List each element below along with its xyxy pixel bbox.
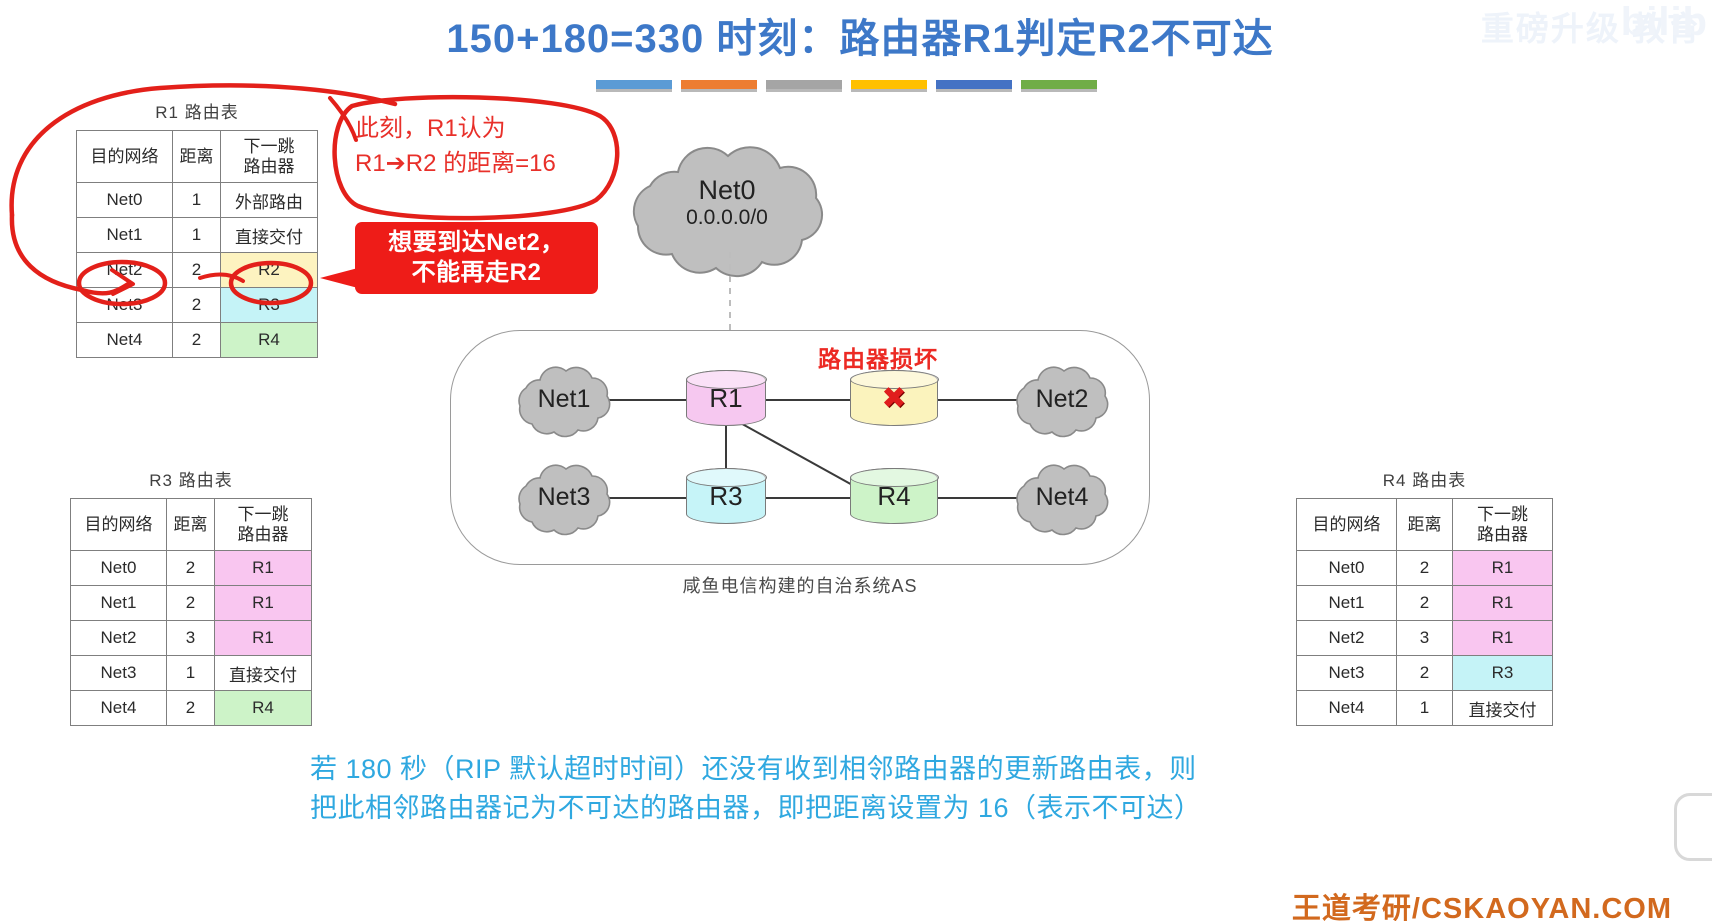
title-bar-1 <box>681 80 757 92</box>
net4-label: Net4 <box>1010 483 1114 512</box>
table-header-row: 目的网络 距离 下一跳 路由器 <box>1297 499 1553 551</box>
header-dist: 距离 <box>173 131 221 183</box>
table-header-row: 目的网络 距离 下一跳 路由器 <box>77 131 318 183</box>
cell-dist: 1 <box>173 183 221 218</box>
bottom-caption: 若 180 秒（RIP 默认超时时间）还没有收到相邻路由器的更新路由表，则 把此… <box>310 750 1430 828</box>
cell-dist: 2 <box>173 288 221 323</box>
cell-nexthop: R1 <box>1453 586 1553 621</box>
cell-nexthop: R3 <box>1453 656 1553 691</box>
r1-table-title: R1 路由表 <box>76 98 318 123</box>
net2-label: Net2 <box>1010 385 1114 414</box>
cell-dist: 1 <box>167 656 215 691</box>
title-bar-2 <box>766 80 842 92</box>
caption-line-2: 把此相邻路由器记为不可达的路由器，即把距离设置为 16（表示不可达） <box>310 789 1430 828</box>
cell-dest: Net4 <box>71 691 167 726</box>
header-dest: 目的网络 <box>71 499 167 551</box>
header-dist: 距离 <box>167 499 215 551</box>
title-underline-bars <box>596 80 1097 92</box>
r3-table-title: R3 路由表 <box>70 466 312 491</box>
cell-dist: 2 <box>173 323 221 358</box>
title-bar-5 <box>1021 80 1097 92</box>
cell-dest: Net4 <box>1297 691 1397 726</box>
cell-dest: Net2 <box>1297 621 1397 656</box>
cell-dist: 3 <box>1397 621 1453 656</box>
cell-dist: 2 <box>1397 656 1453 691</box>
cell-nexthop: R1 <box>215 551 312 586</box>
cell-nexthop: R2 <box>221 253 318 288</box>
router-r4[interactable]: R4 <box>850 468 938 524</box>
cell-dist: 2 <box>173 253 221 288</box>
header-dest: 目的网络 <box>77 131 173 183</box>
table-row: Net32R3 <box>1297 656 1553 691</box>
cell-dist: 2 <box>1397 586 1453 621</box>
cell-dist: 1 <box>1397 691 1453 726</box>
table-row: Net23R1 <box>71 621 312 656</box>
cell-nexthop: R1 <box>1453 621 1553 656</box>
watermark-bottom: 王道考研/CSKAOYAN.COM <box>1292 885 1672 921</box>
callout-r1-belief: 此刻，R1认为 R1➔R2 的距离=16 <box>355 112 605 182</box>
table-row: Net31直接交付 <box>71 656 312 691</box>
router-r4-label: R4 <box>877 481 910 512</box>
table-row: Net41直接交付 <box>1297 691 1553 726</box>
r1-routing-table-block: R1 路由表 目的网络 距离 下一跳 路由器 Net01外部路由Net11直接交… <box>76 98 318 358</box>
cell-nexthop: R1 <box>1453 551 1553 586</box>
slide-title: 150+180=330 时刻：路由器R1判定R2不可达 <box>380 6 1340 64</box>
broken-router-label: 路由器损坏 <box>818 340 938 374</box>
r4-routing-table-block: R4 路由表 目的网络 距离 下一跳 路由器 Net02R1Net12R1Net… <box>1296 466 1553 726</box>
router-r2-broken[interactable]: ✖ <box>850 370 938 426</box>
cell-dest: Net2 <box>71 621 167 656</box>
router-r3-label: R3 <box>709 481 742 512</box>
header-dest: 目的网络 <box>1297 499 1397 551</box>
cell-dist: 2 <box>167 691 215 726</box>
callout-line-2: R1➔R2 的距离=16 <box>355 147 605 182</box>
bilibili-logo-watermark: bilib <box>1621 0 1708 45</box>
link-r1-r2 <box>766 399 850 401</box>
bubble-tail <box>320 268 358 288</box>
cell-dest: Net1 <box>71 586 167 621</box>
router-r3[interactable]: R3 <box>686 468 766 524</box>
table-row: Net11直接交付 <box>77 218 318 253</box>
table-row: Net42R4 <box>77 323 318 358</box>
cell-dest: Net4 <box>77 323 173 358</box>
header-dist: 距离 <box>1397 499 1453 551</box>
cell-nexthop: R1 <box>215 586 312 621</box>
cell-nexthop: R3 <box>221 288 318 323</box>
cell-dest: Net2 <box>77 253 173 288</box>
link-net1-r1 <box>608 399 690 401</box>
callout-bubble-avoid-r2: 想要到达Net2， 不能再走R2 <box>355 222 598 294</box>
table-row: Net12R1 <box>1297 586 1553 621</box>
net1-label: Net1 <box>512 385 616 414</box>
header-nexthop-line1: 下一跳 <box>215 505 311 525</box>
table-row: Net22R2 <box>77 253 318 288</box>
table-row: Net02R1 <box>1297 551 1553 586</box>
r3-routing-table-block: R3 路由表 目的网络 距离 下一跳 路由器 Net02R1Net12R1Net… <box>70 466 312 726</box>
router-r1[interactable]: R1 <box>686 370 766 426</box>
cell-dest: Net0 <box>1297 551 1397 586</box>
net0-label: Net0 <box>616 175 838 206</box>
header-nexthop-line2: 路由器 <box>221 157 317 177</box>
cell-dist: 2 <box>167 551 215 586</box>
header-nexthop-line1: 下一跳 <box>1453 505 1552 525</box>
r1-routing-table: 目的网络 距离 下一跳 路由器 Net01外部路由Net11直接交付Net22R… <box>76 130 318 358</box>
cell-dest: Net3 <box>71 656 167 691</box>
cell-dest: Net3 <box>1297 656 1397 691</box>
bubble-line-1: 想要到达Net2， <box>388 228 565 258</box>
link-r4-net4 <box>938 497 1020 499</box>
net3-label: Net3 <box>512 483 616 512</box>
table-row: Net23R1 <box>1297 621 1553 656</box>
bubble-line-2: 不能再走R2 <box>412 258 542 288</box>
broken-x-icon: ✖ <box>881 381 906 416</box>
title-bar-3 <box>851 80 927 92</box>
callout-line-1: 此刻，R1认为 <box>355 112 605 147</box>
r4-table-title: R4 路由表 <box>1296 466 1553 491</box>
r3-routing-table: 目的网络 距离 下一跳 路由器 Net02R1Net12R1Net23R1Net… <box>70 498 312 726</box>
table-row: Net12R1 <box>71 586 312 621</box>
title-bar-4 <box>936 80 1012 92</box>
header-nexthop-line2: 路由器 <box>215 525 311 545</box>
title-bar-0 <box>596 80 672 92</box>
cell-nexthop: 外部路由 <box>221 183 318 218</box>
cell-nexthop: R4 <box>221 323 318 358</box>
header-nexthop: 下一跳 路由器 <box>221 131 318 183</box>
table-row: Net01外部路由 <box>77 183 318 218</box>
header-nexthop: 下一跳 路由器 <box>1453 499 1553 551</box>
table-row: Net02R1 <box>71 551 312 586</box>
table-row: Net42R4 <box>71 691 312 726</box>
cell-dest: Net0 <box>71 551 167 586</box>
slide-canvas: 重磅升级 教育 bilib 王道考研/CSKAOYAN.COM 150+180=… <box>0 0 1712 921</box>
link-r2-net2 <box>938 399 1020 401</box>
as-label: 咸鱼电信构建的自治系统AS <box>450 572 1150 598</box>
cell-nexthop: 直接交付 <box>215 656 312 691</box>
cell-dist: 2 <box>1397 551 1453 586</box>
cell-dist: 2 <box>167 586 215 621</box>
table-row: Net32R3 <box>77 288 318 323</box>
header-nexthop: 下一跳 路由器 <box>215 499 312 551</box>
cell-nexthop: R1 <box>215 621 312 656</box>
cell-nexthop: 直接交付 <box>1453 691 1553 726</box>
header-nexthop-line2: 路由器 <box>1453 525 1552 545</box>
cell-dist: 3 <box>167 621 215 656</box>
router-r1-label: R1 <box>709 383 742 414</box>
cell-dest: Net1 <box>77 218 173 253</box>
header-nexthop-line1: 下一跳 <box>221 137 317 157</box>
cell-dest: Net0 <box>77 183 173 218</box>
cell-dest: Net1 <box>1297 586 1397 621</box>
r4-routing-table: 目的网络 距离 下一跳 路由器 Net02R1Net12R1Net23R1Net… <box>1296 498 1553 726</box>
cell-dist: 1 <box>173 218 221 253</box>
cell-nexthop: 直接交付 <box>221 218 318 253</box>
caption-line-1: 若 180 秒（RIP 默认超时时间）还没有收到相邻路由器的更新路由表，则 <box>310 750 1430 789</box>
link-net3-r3 <box>608 497 690 499</box>
cell-dest: Net3 <box>77 288 173 323</box>
net0-cidr-label: 0.0.0.0/0 <box>616 206 838 230</box>
corner-decoration <box>1674 793 1712 861</box>
cell-nexthop: R4 <box>215 691 312 726</box>
table-header-row: 目的网络 距离 下一跳 路由器 <box>71 499 312 551</box>
